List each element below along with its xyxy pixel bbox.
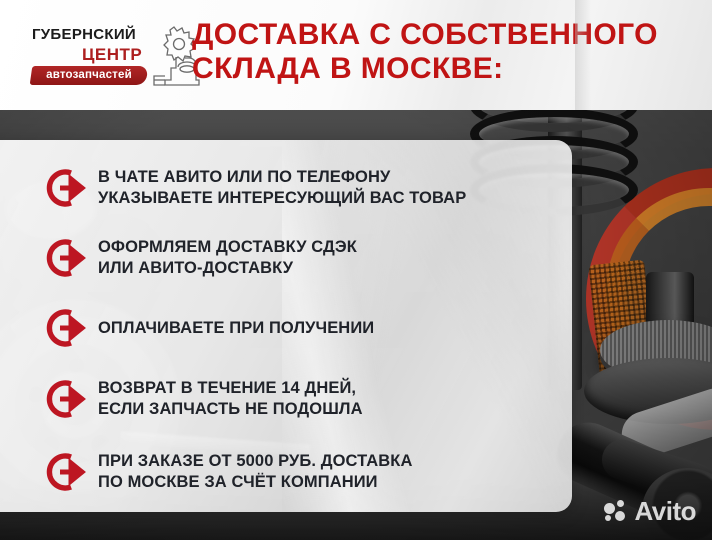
steps-list: В ЧАТЕ АВИТО ИЛИ ПО ТЕЛЕФОНУ УКАЗЫВАЕТЕ …: [60, 154, 560, 508]
steps-panel: В ЧАТЕ АВИТО ИЛИ ПО ТЕЛЕФОНУ УКАЗЫВАЕТЕ …: [0, 140, 572, 512]
promo-banner: ГУБЕРНСКИЙ ЦЕНТР автозапчастей ДОСТАВКА …: [0, 0, 712, 540]
arrow-right-out-icon: [42, 375, 90, 423]
header-band: ГУБЕРНСКИЙ ЦЕНТР автозапчастей ДОСТАВКА …: [0, 0, 712, 110]
list-item-label: В ЧАТЕ АВИТО ИЛИ ПО ТЕЛЕФОНУ УКАЗЫВАЕТЕ …: [98, 167, 466, 209]
list-item-label: ОФОРМЛЯЕМ ДОСТАВКУ СДЭК ИЛИ АВИТО-ДОСТАВ…: [98, 237, 357, 279]
arrow-right-out-icon: [42, 304, 90, 352]
list-item: В ЧАТЕ АВИТО ИЛИ ПО ТЕЛЕФОНУ УКАЗЫВАЕТЕ …: [60, 154, 560, 222]
avito-wordmark: Avito: [634, 498, 696, 524]
list-item-label: ПРИ ЗАКАЗЕ ОТ 5000 РУБ. ДОСТАВКА ПО МОСК…: [98, 451, 413, 493]
logo-line-1: ГУБЕРНСКИЙ: [32, 26, 136, 43]
list-item-label: ВОЗВРАТ В ТЕЧЕНИЕ 14 ДНЕЙ, ЕСЛИ ЗАПЧАСТЬ…: [98, 378, 363, 420]
list-item: ОПЛАЧИВАЕТЕ ПРИ ПОЛУЧЕНИИ: [60, 294, 560, 362]
avito-dots-icon: [604, 500, 628, 522]
avito-watermark: Avito: [604, 498, 696, 524]
arrow-right-out-icon: [42, 448, 90, 496]
list-item-label: ОПЛАЧИВАЕТЕ ПРИ ПОЛУЧЕНИИ: [98, 318, 374, 339]
list-item: ПРИ ЗАКАЗЕ ОТ 5000 РУБ. ДОСТАВКА ПО МОСК…: [60, 436, 560, 508]
page-title: ДОСТАВКА С СОБСТВЕННОГО СКЛАДА В МОСКВЕ:: [192, 18, 697, 86]
logo-badge: автозапчастей: [30, 66, 149, 85]
arrow-right-out-icon: [42, 234, 90, 282]
list-item: ОФОРМЛЯЕМ ДОСТАВКУ СДЭК ИЛИ АВИТО-ДОСТАВ…: [60, 222, 560, 294]
logo-line-2: ЦЕНТР: [82, 45, 142, 65]
logo-badge-label: автозапчастей: [31, 66, 147, 85]
company-logo: ГУБЕРНСКИЙ ЦЕНТР автозапчастей: [26, 26, 181, 88]
list-item: ВОЗВРАТ В ТЕЧЕНИЕ 14 ДНЕЙ, ЕСЛИ ЗАПЧАСТЬ…: [60, 362, 560, 436]
arrow-right-out-icon: [42, 164, 90, 212]
